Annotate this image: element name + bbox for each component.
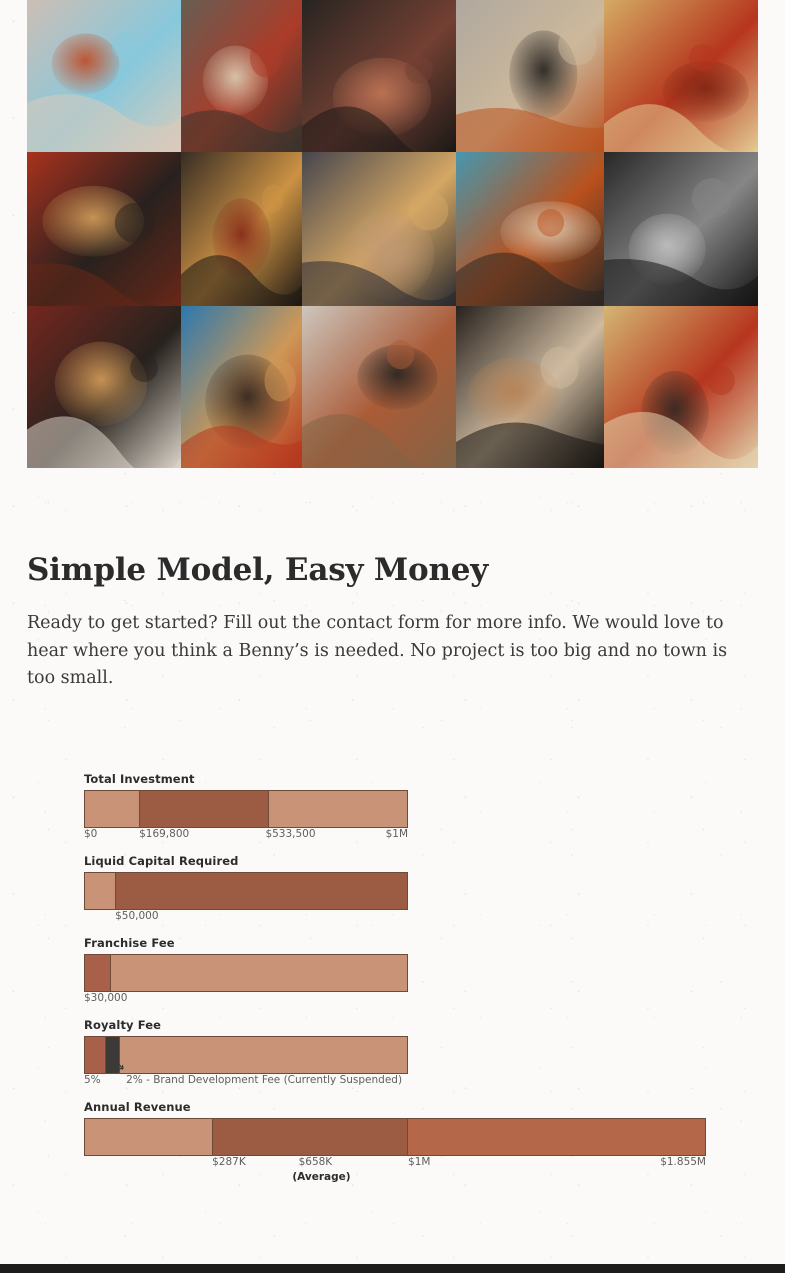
axis-tick-labels: 5%2% - Brand Development Fee (Currently … (84, 1074, 408, 1089)
bar-segment (269, 791, 407, 827)
axis-tick-label: $50,000 (115, 910, 158, 922)
axis-tick-label: $533,500 (265, 828, 315, 840)
photo-woman-with-large-slice (181, 152, 302, 306)
axis-tick-labels: $50,000 (84, 910, 408, 925)
bar-segment (85, 791, 140, 827)
chart-annual-revenue: Annual Revenue$287K$658K$1M$1.855M(Avera… (0, 1100, 785, 1185)
photo-collage (27, 0, 758, 468)
photo-group-of-friends (27, 152, 181, 306)
photo-person-with-giant-slice (181, 306, 302, 468)
axis-tick-labels: $30,000 (84, 992, 408, 1007)
axis-tick-labels: $0$169,800$533,500$1M (84, 828, 408, 843)
photo-woman-holding-slice (27, 0, 181, 152)
photo-group-with-giant-box (302, 306, 456, 468)
photo-woman-with-pizza-box (181, 0, 302, 152)
bar-segment (213, 1119, 408, 1155)
axis-tick-label: $1M (408, 1156, 430, 1168)
bar-segment (116, 873, 407, 909)
stacked-bar (84, 954, 408, 992)
chart-title: Annual Revenue (84, 1100, 785, 1114)
axis-tick-labels: $287K$658K$1M$1.855M (84, 1156, 706, 1171)
bar-segment (85, 1119, 213, 1155)
chart-liquid-capital-required: Liquid Capital Required$50,000 (0, 854, 785, 925)
franchise-figures-charts: Total Investment$0$169,800$533,500$1MLiq… (0, 772, 785, 1196)
footer-strip (0, 1264, 785, 1273)
photo-child-with-pizza-box (456, 152, 604, 306)
axis-tick-label: $658K (299, 1156, 333, 1168)
bar-segment (85, 1037, 106, 1073)
stacked-bar (84, 872, 408, 910)
photo-bennys-storefront-bw (604, 152, 758, 306)
chart-title: Liquid Capital Required (84, 854, 785, 868)
chart-annotation-row: (Average) (84, 1171, 706, 1185)
axis-tick-label: 2% - Brand Development Fee (Currently Su… (126, 1074, 402, 1086)
bar-segment (85, 873, 116, 909)
stacked-bar (84, 1036, 408, 1074)
chart-title: Royalty Fee (84, 1018, 785, 1032)
axis-tick-label: $1M (386, 828, 408, 840)
photo-crowd-with-giant-pizzas (604, 306, 758, 468)
axis-tick-label: 5% (84, 1074, 101, 1086)
photo-man-with-slice (302, 0, 456, 152)
stacked-bar (84, 790, 408, 828)
bar-segment (111, 955, 407, 991)
photo-boy-eating-slice (27, 306, 181, 468)
chart-total-investment: Total Investment$0$169,800$533,500$1M (0, 772, 785, 843)
franchise-landing-page: Simple Model, Easy Money Ready to get st… (0, 0, 785, 1273)
chart-title: Franchise Fee (84, 936, 785, 950)
bar-segment (120, 1037, 407, 1073)
chart-title: Total Investment (84, 772, 785, 786)
photo-woman-holding-box-outdoors (456, 0, 604, 152)
axis-tick-label: $0 (84, 828, 97, 840)
bar-segment (85, 955, 111, 991)
stacked-bar (84, 1118, 706, 1156)
photo-woman-serving-pizza (456, 306, 604, 468)
bar-segment (140, 791, 269, 827)
page-title: Simple Model, Easy Money (27, 552, 747, 588)
bar-segment (106, 1037, 120, 1073)
axis-tick-label: $169,800 (139, 828, 189, 840)
axis-tick-label: $1.855M (660, 1156, 706, 1168)
chart-franchise-fee: Franchise Fee$30,000 (0, 936, 785, 1007)
chart-royalty-fee: Royalty Fee5%2% - Brand Development Fee … (0, 1018, 785, 1089)
photo-pepperoni-pizza-overhead (604, 0, 758, 152)
axis-tick-label: $30,000 (84, 992, 127, 1004)
average-annotation: (Average) (292, 1171, 350, 1183)
page-lede: Ready to get started? Fill out the conta… (27, 610, 757, 693)
bar-segment (408, 1119, 705, 1155)
axis-tick-label: $287K (212, 1156, 246, 1168)
photo-woman-holding-slice-up (302, 152, 456, 306)
